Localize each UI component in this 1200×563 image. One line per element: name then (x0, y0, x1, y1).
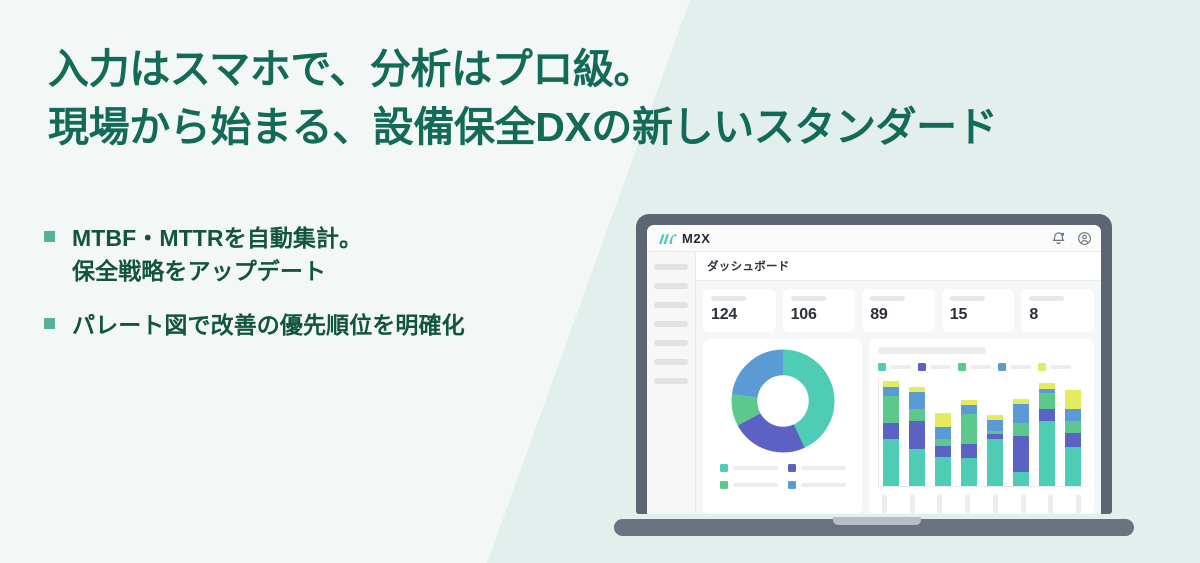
bar-segment[interactable] (935, 457, 951, 486)
bar-segment[interactable] (1013, 404, 1029, 423)
bar-segment[interactable] (935, 439, 951, 447)
kpi-value: 15 (950, 306, 1007, 324)
feature-bullet-list: MTBF・MTTRを自動集計。 保全戦略をアップデート パレート図で改善の優先順… (44, 222, 644, 364)
app-logo-text: M2X (682, 231, 711, 246)
bar-segment[interactable] (935, 413, 951, 427)
bar-segment[interactable] (909, 421, 925, 449)
sidebar (647, 252, 696, 514)
user-circle-icon[interactable] (1077, 231, 1092, 246)
bar-segment[interactable] (909, 449, 925, 486)
bar-segment[interactable] (883, 396, 899, 423)
square-bullet-icon (44, 318, 55, 329)
x-axis-label-placeholder (1048, 494, 1053, 514)
legend-label-placeholder (801, 483, 846, 487)
bar-segment[interactable] (961, 405, 977, 414)
kpi-card[interactable]: 89 (862, 289, 935, 332)
main-content: ダッシュボード 124 106 (696, 252, 1101, 514)
bar-stack[interactable] (909, 387, 925, 486)
legend-swatch (958, 363, 966, 371)
legend-swatch (720, 481, 728, 489)
legend-item[interactable] (788, 464, 846, 472)
app-body: ダッシュボード 124 106 (647, 252, 1101, 514)
kpi-value: 124 (711, 306, 768, 324)
hero-copy: 入力はスマホで、分析はプロ級。 現場から始まる、設備保全DXの新しいスタンダード (48, 44, 1168, 152)
bar-stack[interactable] (1039, 383, 1055, 486)
list-item: パレート図で改善の優先順位を明確化 (44, 309, 644, 342)
kpi-card[interactable]: 15 (942, 289, 1015, 332)
legend-label-placeholder (801, 466, 846, 470)
bar-segment[interactable] (1065, 421, 1081, 433)
square-bullet-icon (44, 231, 55, 242)
sidebar-item-placeholder[interactable] (654, 359, 688, 365)
x-axis-label-placeholder (910, 494, 915, 514)
bar-segment[interactable] (1065, 390, 1081, 409)
sidebar-item-placeholder[interactable] (654, 264, 688, 270)
kpi-card[interactable]: 124 (703, 289, 776, 332)
bar-stack[interactable] (987, 415, 1003, 486)
list-item: MTBF・MTTRを自動集計。 保全戦略をアップデート (44, 222, 644, 287)
bar-stack[interactable] (1065, 390, 1081, 486)
legend-item[interactable] (998, 363, 1031, 371)
x-axis-label-placeholder (1076, 494, 1081, 514)
bullet-text: パレート図で改善の優先順位を明確化 (72, 309, 465, 342)
x-axis-label-placeholder (882, 494, 887, 514)
bar-segment[interactable] (987, 439, 1003, 487)
page-header: ダッシュボード (696, 252, 1101, 281)
legend-swatch (918, 363, 926, 371)
bullet-line-1: パレート図で改善の優先順位を明確化 (72, 309, 465, 342)
header-actions (1051, 231, 1092, 246)
bar-chart-plot-area (878, 378, 1085, 487)
kpi-label-placeholder (1029, 296, 1064, 301)
bar-segment[interactable] (935, 427, 951, 439)
bar-segment[interactable] (883, 439, 899, 487)
laptop-mockup: M2X (614, 214, 1134, 540)
bar-stack[interactable] (883, 381, 899, 486)
kpi-card-row: 124 106 89 (703, 289, 1094, 332)
bar-segment[interactable] (935, 446, 951, 457)
legend-swatch (1038, 363, 1046, 371)
bar-segment[interactable] (883, 387, 899, 397)
kpi-value: 8 (1029, 306, 1086, 324)
legend-swatch (720, 464, 728, 472)
kpi-card[interactable]: 8 (1021, 289, 1094, 332)
x-axis-label-placeholder (993, 494, 998, 514)
bar-segment[interactable] (1013, 436, 1029, 472)
bar-stack[interactable] (1013, 399, 1029, 486)
bar-segment[interactable] (1039, 409, 1055, 421)
laptop-base-notch (833, 517, 921, 525)
app-header: M2X (647, 225, 1101, 252)
legend-item[interactable] (878, 363, 911, 371)
kpi-card[interactable]: 106 (783, 289, 856, 332)
legend-swatch (998, 363, 1006, 371)
bar-chart-title-placeholder (878, 347, 986, 354)
legend-label-placeholder (970, 365, 991, 369)
app-screen: M2X (647, 225, 1101, 514)
legend-label-placeholder (930, 365, 951, 369)
x-axis-label-placeholder (965, 494, 970, 514)
bar-segment[interactable] (909, 392, 925, 409)
legend-item[interactable] (788, 481, 846, 489)
kpi-label-placeholder (791, 296, 826, 301)
bar-segment[interactable] (1065, 409, 1081, 421)
bar-segment[interactable] (961, 444, 977, 458)
bar-segment[interactable] (909, 409, 925, 421)
legend-swatch (788, 481, 796, 489)
bar-segment[interactable] (961, 458, 977, 486)
bar-chart-panel[interactable] (869, 339, 1094, 514)
kpi-value: 106 (791, 306, 848, 324)
bar-segment[interactable] (1065, 433, 1081, 447)
bar-segment[interactable] (1039, 421, 1055, 486)
x-axis-label-placeholder (1021, 494, 1026, 514)
bullet-text: MTBF・MTTRを自動集計。 保全戦略をアップデート (72, 222, 362, 287)
donut-chart-panel[interactable] (703, 339, 862, 514)
sidebar-item-placeholder[interactable] (654, 283, 688, 289)
bar-segment[interactable] (1013, 472, 1029, 486)
dashboard-title: ダッシュボード (707, 258, 790, 274)
kpi-label-placeholder (711, 296, 746, 301)
donut-chart (731, 349, 835, 453)
bullet-line-2: 保全戦略をアップデート (72, 255, 362, 288)
kpi-value: 89 (870, 306, 927, 324)
m2x-logo-mark-icon (658, 233, 677, 244)
kpi-label-placeholder (870, 296, 905, 301)
bar-chart-legend (878, 363, 1085, 371)
sidebar-item-placeholder[interactable] (654, 340, 688, 346)
bar-segment[interactable] (1039, 393, 1055, 409)
donut-chart-svg (731, 349, 835, 453)
dashboard-canvas: 124 106 89 (696, 281, 1101, 514)
legend-label-placeholder (1010, 365, 1031, 369)
legend-label-placeholder (733, 466, 778, 470)
legend-item[interactable] (958, 363, 991, 371)
x-axis-label-placeholder (937, 494, 942, 514)
legend-label-placeholder (890, 365, 911, 369)
legend-item[interactable] (720, 481, 778, 489)
bar-segment[interactable] (883, 423, 899, 438)
legend-label-placeholder (1050, 365, 1071, 369)
sidebar-item-placeholder[interactable] (654, 302, 688, 308)
bar-segment[interactable] (1013, 423, 1029, 436)
bar-segment[interactable] (1065, 447, 1081, 486)
laptop-lid: M2X (636, 214, 1112, 514)
bar-stack[interactable] (961, 400, 977, 486)
bar-segment[interactable] (961, 414, 977, 444)
sidebar-item-placeholder[interactable] (654, 321, 688, 327)
page-title: 入力はスマホで、分析はプロ級。 (48, 44, 1168, 94)
legend-item[interactable] (918, 363, 951, 371)
hero-banner: 入力はスマホで、分析はプロ級。 現場から始まる、設備保全DXの新しいスタンダード… (0, 0, 1200, 563)
app-logo[interactable]: M2X (658, 231, 711, 246)
bar-segment[interactable] (987, 420, 1003, 431)
bar-stack[interactable] (935, 413, 951, 486)
legend-item[interactable] (1038, 363, 1071, 371)
sidebar-item-placeholder[interactable] (654, 378, 688, 384)
kpi-label-placeholder (950, 296, 985, 301)
bell-icon[interactable] (1051, 231, 1066, 246)
bullet-line-1: MTBF・MTTRを自動集計。 (72, 222, 362, 255)
chart-panel-row (703, 339, 1094, 514)
legend-swatch (788, 464, 796, 472)
legend-item[interactable] (720, 464, 778, 472)
legend-swatch (878, 363, 886, 371)
headline-line-2: 現場から始まる、設備保全DXの新しいスタンダード (48, 102, 1168, 152)
legend-label-placeholder (733, 483, 778, 487)
bar-chart-x-axis-labels (878, 487, 1085, 514)
donut-legend (720, 464, 846, 489)
